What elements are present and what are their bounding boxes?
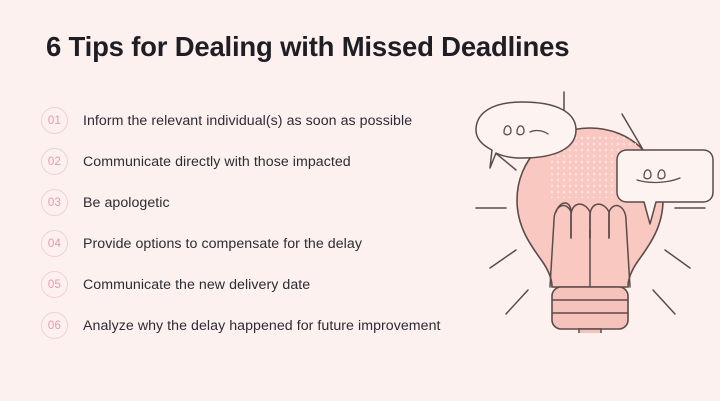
page-title: 6 Tips for Dealing with Missed Deadlines <box>46 31 569 63</box>
tip-number-badge: 03 <box>41 189 68 216</box>
list-item: 01 Inform the relevant individual(s) as … <box>41 100 511 141</box>
tip-number-label: 01 <box>48 115 61 127</box>
screw-base-icon <box>552 287 628 333</box>
tip-text: Be apologetic <box>83 195 170 211</box>
tip-text: Analyze why the delay happened for futur… <box>83 318 441 334</box>
tip-number-label: 06 <box>48 320 61 332</box>
tip-number-label: 05 <box>48 279 61 291</box>
list-item: 04 Provide options to compensate for the… <box>41 223 511 264</box>
list-item: 05 Communicate the new delivery date <box>41 264 511 305</box>
tip-number-badge: 01 <box>41 107 68 134</box>
list-item: 03 Be apologetic <box>41 182 511 223</box>
tip-text: Communicate directly with those impacted <box>83 154 351 170</box>
tip-text: Communicate the new delivery date <box>83 277 310 293</box>
tip-number-badge: 06 <box>41 312 68 339</box>
lightbulb-illustration <box>472 88 720 333</box>
tip-number-label: 03 <box>48 197 61 209</box>
tip-number-badge: 04 <box>41 230 68 257</box>
tips-list: 01 Inform the relevant individual(s) as … <box>41 100 511 346</box>
tip-number-label: 04 <box>48 238 61 250</box>
tip-number-badge: 05 <box>41 271 68 298</box>
list-item: 06 Analyze why the delay happened for fu… <box>41 305 511 346</box>
tip-number-badge: 02 <box>41 148 68 175</box>
tip-number-label: 02 <box>48 156 61 168</box>
infographic-canvas: 6 Tips for Dealing with Missed Deadlines… <box>0 0 720 401</box>
tip-text: Inform the relevant individual(s) as soo… <box>83 113 412 129</box>
list-item: 02 Communicate directly with those impac… <box>41 141 511 182</box>
tip-text: Provide options to compensate for the de… <box>83 236 362 252</box>
